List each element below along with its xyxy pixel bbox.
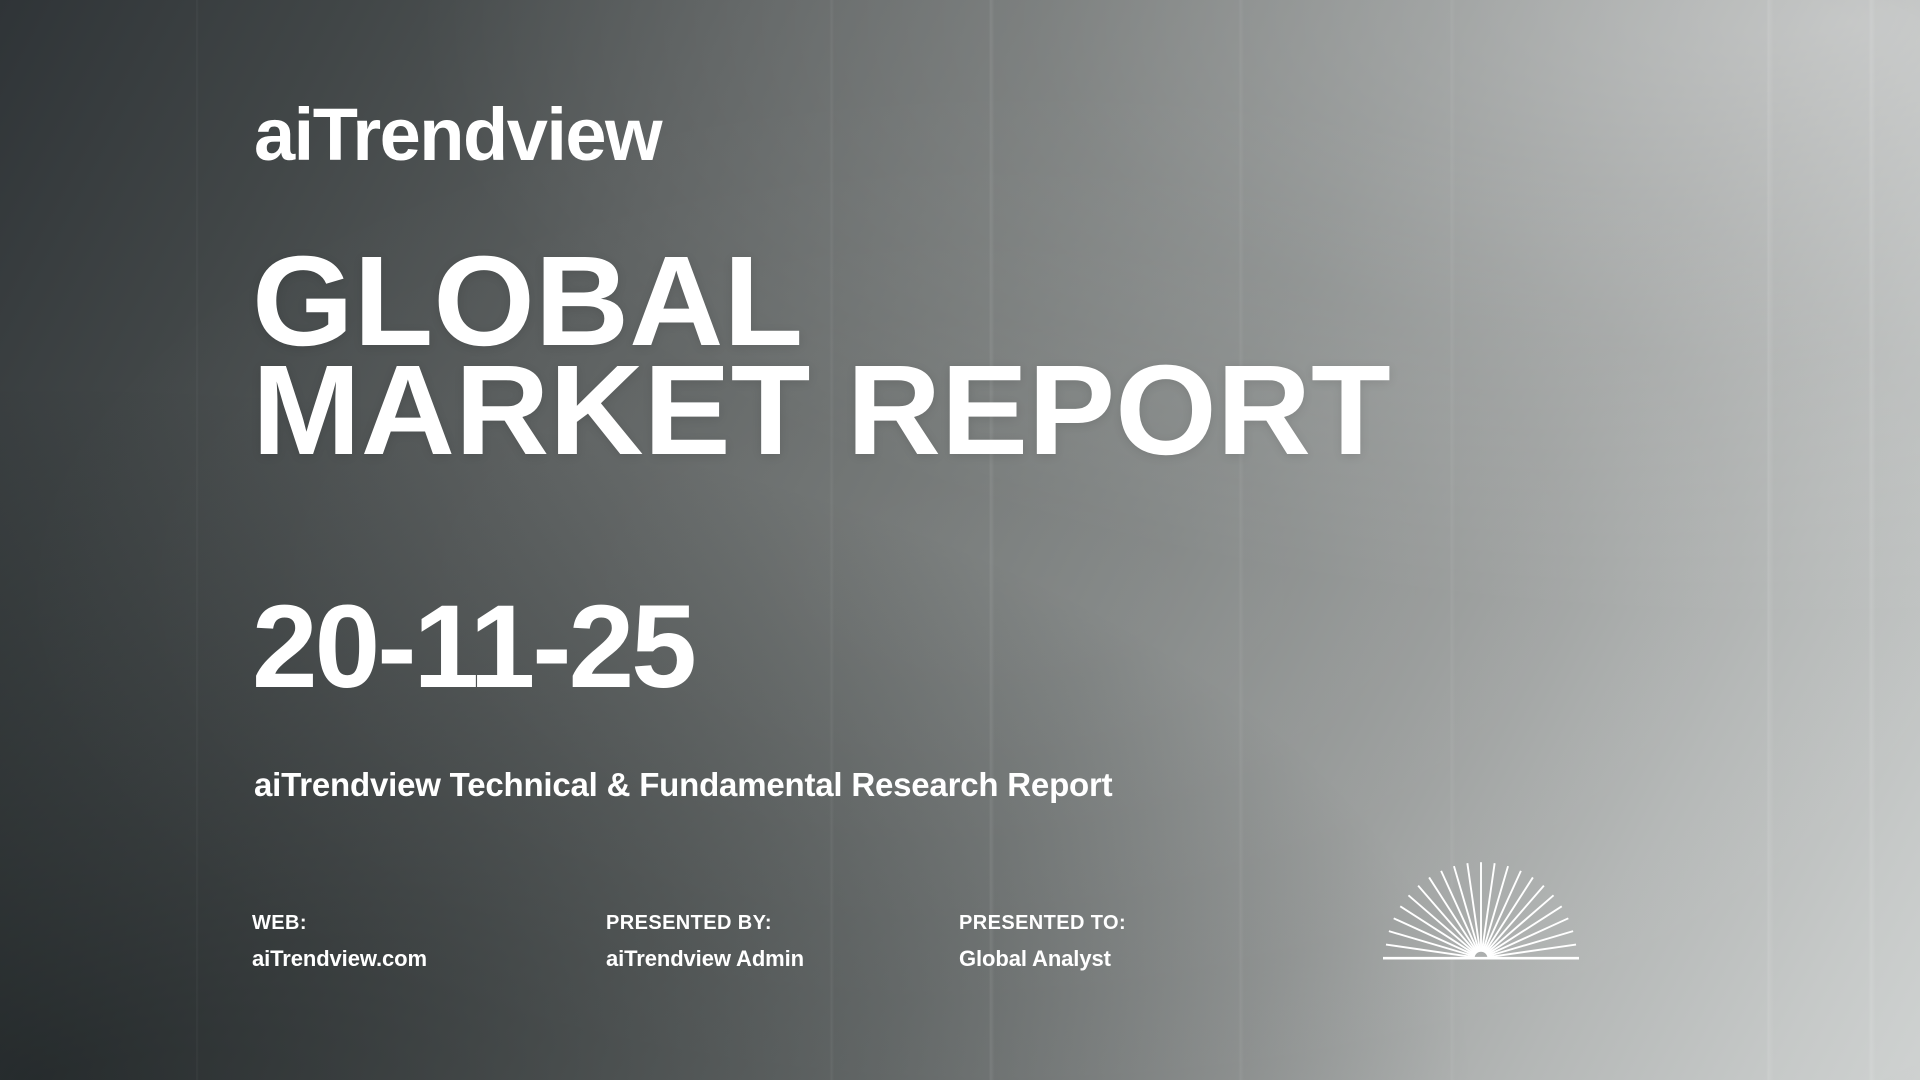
slide-content: aiTrendview GLOBAL MARKET REPORT 20-11-2… [0, 0, 1920, 1080]
sunburst-icon [1381, 855, 1581, 965]
footer-label-presented-to: PRESENTED TO: [959, 913, 1126, 933]
footer-column-presented-by: PRESENTED BY: aiTrendview Admin [606, 913, 804, 970]
footer-label-web: WEB: [252, 913, 427, 933]
footer-value-presented-to: Global Analyst [959, 948, 1126, 970]
footer-label-presented-by: PRESENTED BY: [606, 913, 804, 933]
brand-logotype: aiTrendview [254, 98, 661, 172]
footer-column-presented-to: PRESENTED TO: Global Analyst [959, 913, 1126, 970]
title-line-secondary: MARKET REPORT [252, 356, 1391, 465]
report-date: 20-11-25 [252, 588, 694, 706]
report-subtitle: aiTrendview Technical & Fundamental Rese… [254, 767, 1112, 803]
footer-column-web: WEB: aiTrendview.com [252, 913, 427, 970]
footer-value-presented-by: aiTrendview Admin [606, 948, 804, 970]
report-title: GLOBAL MARKET REPORT [252, 247, 1368, 466]
title-slide: aiTrendview GLOBAL MARKET REPORT 20-11-2… [0, 0, 1920, 1080]
footer-value-web[interactable]: aiTrendview.com [252, 948, 427, 970]
